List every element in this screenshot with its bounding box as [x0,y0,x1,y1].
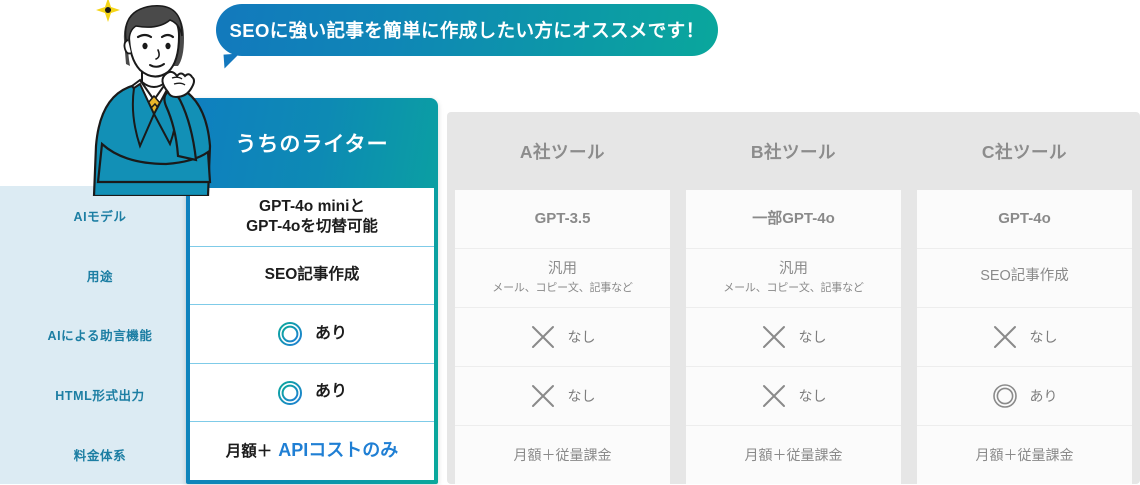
competitor-b-html-label: なし [799,387,827,406]
main-use-cell: SEO記事作成 [190,246,434,305]
competitor-column-b: B社ツール 一部GPT-4o 汎用 メール、コピー文、記事など なし [678,112,909,484]
main-html-label: あり [315,382,347,403]
competitor-a-model: GPT-3.5 [455,190,670,248]
competitor-c-model: GPT-4o [917,190,1132,248]
competitor-a-use: 汎用 メール、コピー文、記事など [455,248,670,307]
competitor-b-title: B社ツール [686,112,901,190]
competitor-column-a: A社ツール GPT-3.5 汎用 メール、コピー文、記事など なし [447,112,678,484]
competitor-b-html: なし [686,366,901,425]
competitor-c-price: 月額＋従量課金 [917,425,1132,484]
competitor-b-body: 一部GPT-4o 汎用 メール、コピー文、記事など なし [686,190,901,484]
competitor-c-advice: なし [917,307,1132,366]
competitor-b-use: 汎用 メール、コピー文、記事など [686,248,901,307]
cross-icon [761,383,787,409]
main-price-cell: 月額＋APIコストのみ [190,421,434,480]
cross-icon [530,383,556,409]
comparison-table-infographic: AIモデル 用途 AIによる助言機能 HTML形式出力 料金体系 A社ツール G… [0,0,1140,485]
competitor-a-use-sub: メール、コピー文、記事など [492,281,632,296]
competitor-c-use-main: SEO記事作成 [980,267,1069,287]
speech-bubble-text: SEOに強い記事を簡単に作成したい方にオススメです！ [230,17,705,43]
competitor-c-use: SEO記事作成 [917,248,1132,307]
main-advice-cell: あり [190,304,434,363]
competitor-a-html: なし [455,366,670,425]
competitor-b-advice: なし [686,307,901,366]
thinking-businessman-illustration [84,0,224,196]
competitor-c-advice-label: なし [1030,328,1058,347]
competitor-a-price: 月額＋従量課金 [455,425,670,484]
row-label-column: AIモデル 用途 AIによる助言機能 HTML形式出力 料金体系 [0,186,200,484]
competitor-c-title: C社ツール [917,112,1132,190]
circle-double-icon [277,321,303,347]
competitor-a-body: GPT-3.5 汎用 メール、コピー文、記事など なし [455,190,670,484]
competitor-panel: A社ツール GPT-3.5 汎用 メール、コピー文、記事など なし [447,112,1140,484]
main-price-accent: APIコストのみ [278,440,398,460]
main-product-body: GPT-4o miniと GPT-4oを切替可能 SEO記事作成 [190,188,434,480]
competitor-a-advice: なし [455,307,670,366]
circle-double-icon [992,383,1018,409]
competitor-a-html-label: なし [568,387,596,406]
main-advice-label: あり [315,324,347,345]
main-model-cell: GPT-4o miniと GPT-4oを切替可能 [190,188,434,246]
row-label-pricing: 料金体系 [0,424,200,484]
competitor-b-use-main: 汎用 [723,260,863,280]
row-label-use: 用途 [0,246,200,306]
speech-bubble-tail [224,53,241,68]
speech-bubble: SEOに強い記事を簡単に作成したい方にオススメです！ [216,4,718,56]
main-model-line2: GPT-4oを切替可能 [246,217,378,237]
competitor-column-c: C社ツール GPT-4o SEO記事作成 なし [909,112,1140,484]
cross-icon [530,324,556,350]
cross-icon [761,324,787,350]
competitor-c-html-label: あり [1030,387,1058,406]
competitor-a-title: A社ツール [455,112,670,190]
cross-icon [992,324,1018,350]
competitor-b-use-sub: メール、コピー文、記事など [723,281,863,296]
main-model-line1: GPT-4o miniと [246,197,378,217]
competitor-a-use-main: 汎用 [492,260,632,280]
main-price-prefix: 月額＋ [226,443,273,460]
competitor-b-model: 一部GPT-4o [686,190,901,248]
row-label-html-output: HTML形式出力 [0,365,200,425]
competitor-c-html: あり [917,366,1132,425]
row-label-ai-advice: AIによる助言機能 [0,305,200,365]
sparkle-icon [96,0,120,22]
competitor-c-body: GPT-4o SEO記事作成 なし [917,190,1132,484]
competitor-a-advice-label: なし [568,328,596,347]
main-product-title: うちのライター [190,98,434,188]
competitor-b-price: 月額＋従量課金 [686,425,901,484]
competitor-b-advice-label: なし [799,328,827,347]
main-html-cell: あり [190,363,434,422]
circle-double-icon [277,380,303,406]
